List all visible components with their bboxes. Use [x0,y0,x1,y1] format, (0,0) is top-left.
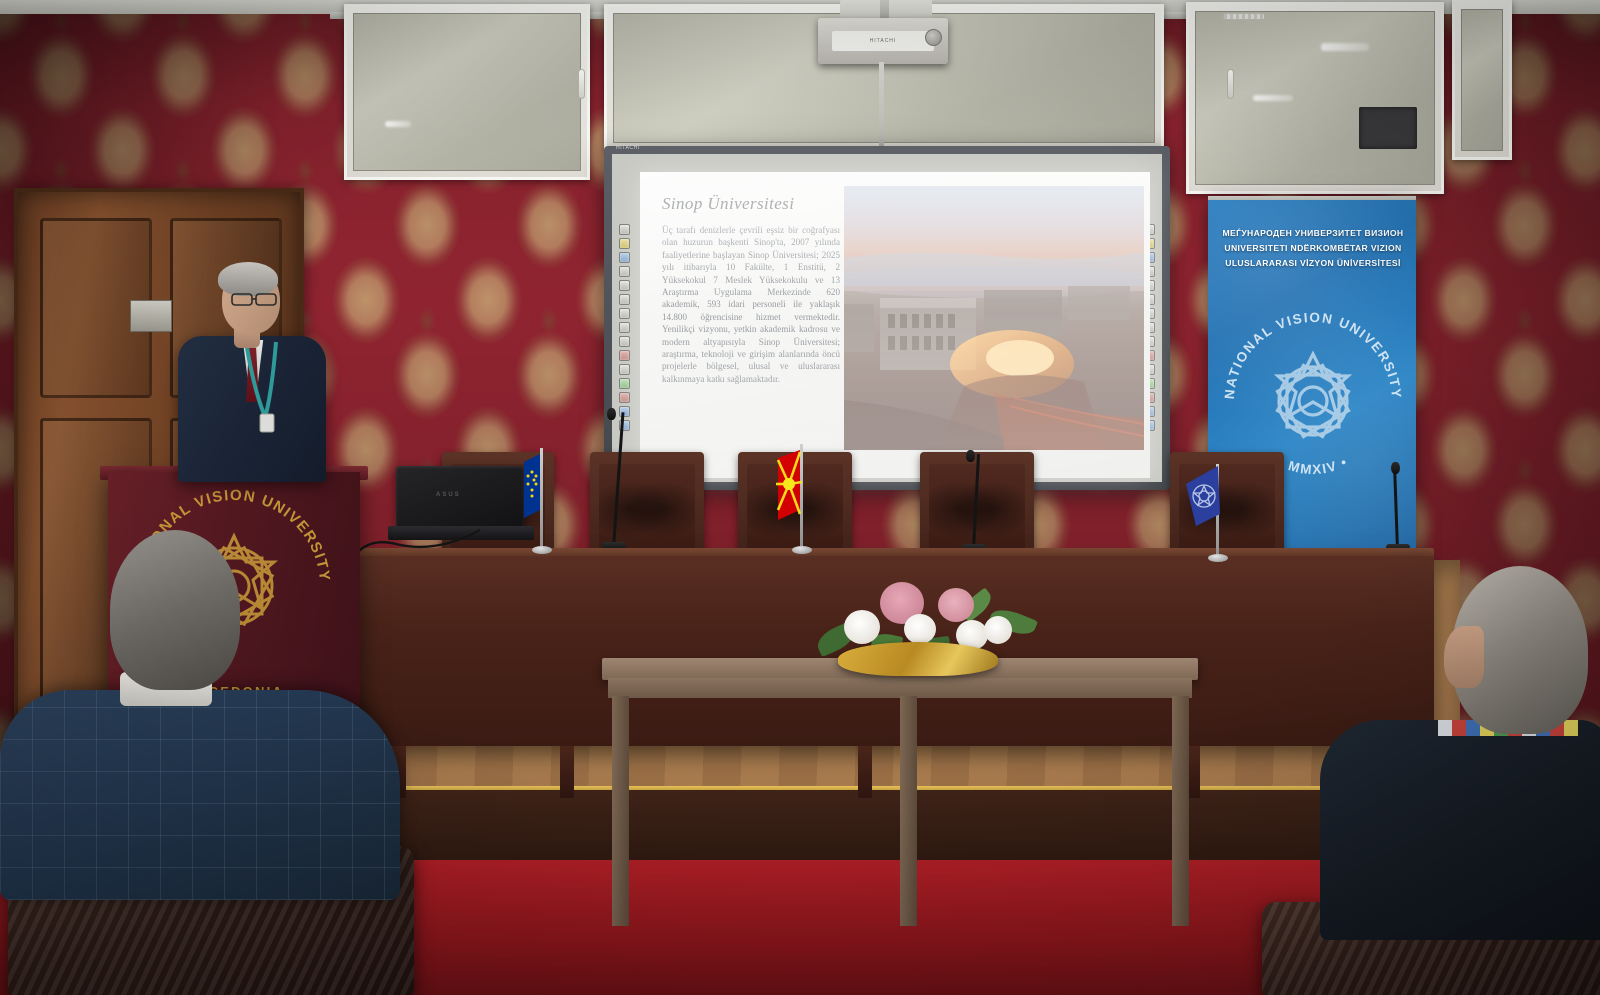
campus-aerial-illustration [844,186,1144,450]
toolbar-icon-save[interactable] [619,364,630,375]
projector-pole [879,62,884,152]
projector-brand-label: HITACHI [832,31,934,51]
slide-body-text: Üç tarafı denizlerle çevrili eşsiz bir c… [662,224,840,385]
toolbar-icon-redo[interactable] [619,308,630,319]
banner-logo-year: • MMXIV • [1275,454,1350,477]
flower-white-rose-4 [984,616,1012,644]
toolbar-icon-highlighter[interactable] [619,238,630,249]
microphone-head-2 [966,450,975,462]
toolbar-icon-green-pen[interactable] [619,378,630,389]
head-table-leg-3 [858,746,872,798]
front-table-leg-left [612,696,629,926]
flower-gold-wrap [838,642,998,676]
speaker-lanyard [236,340,294,436]
laptop-brand-label: ASUS [436,492,461,498]
banner-line-macedonian: МЕЃУНАРОДЕН УНИВЕРЗИТЕТ ВИЗИОН [1216,226,1410,241]
head-table-leg-2 [560,746,574,798]
flower-pink-2 [938,588,974,622]
university-flag [1180,462,1224,544]
projector-lens [925,29,942,46]
window-right-glare-1 [1321,43,1369,51]
toolbar-icon-red-pen[interactable] [619,350,630,361]
window-right[interactable] [1186,2,1444,194]
laptop-icon[interactable]: ASUS [396,466,524,528]
conference-hall-scene: HITACHI HITACHI [0,0,1600,995]
microphone-head-3 [1391,462,1400,474]
light-switch-plate[interactable] [130,300,172,332]
toolbar-icon-shape[interactable] [619,280,630,291]
toolbar-icon-close[interactable] [619,392,630,403]
microphone-head-1 [607,408,616,420]
head-table-chair-1[interactable] [590,452,704,554]
window-left-pane [353,13,581,171]
front-table-leg-right [1172,696,1189,926]
window-left-handle[interactable] [578,69,585,99]
window-far-right-pane [1461,9,1503,151]
window-right-handle[interactable] [1227,69,1234,99]
banner-line-albanian: UNIVERSITETI NDËRKOMBËTAR VIZION [1216,241,1410,256]
window-right-vent [1223,13,1265,20]
audience-left-head [110,530,240,690]
audience-right-ear-cheek [1444,626,1484,688]
toolbar-icon-pen[interactable] [619,252,630,263]
university-flag-base [1208,554,1228,562]
audience-right-sweater [1320,720,1600,940]
toolbar-icon-keyboard[interactable] [619,336,630,347]
european-union-flag-base [532,546,552,554]
flower-white-rose-1 [844,610,880,644]
north-macedonia-flag-base [792,546,812,554]
european-union-flag [520,452,552,528]
whiteboard-surface[interactable]: Sinop Üniversitesi Üç tarafı denizlerle … [612,154,1162,482]
flower-arrangement-icon [800,572,1050,682]
window-far-right[interactable] [1452,0,1512,160]
toolbar-icon-page[interactable] [619,322,630,333]
whiteboard-brand-label: HITACHI [616,145,640,151]
audience-left-windowpane-pattern [0,690,400,900]
front-table-leg-center [900,696,917,926]
projected-slide: Sinop Üniversitesi Üç tarafı denizlerle … [640,172,1150,478]
flower-white-rose-2 [904,614,936,644]
toolbar-icon-undo[interactable] [619,294,630,305]
window-left-glare [385,121,411,127]
window-right-reflection-equipment [1359,107,1417,149]
slide-campus-photo [844,186,1144,450]
whiteboard-toolbar-left[interactable] [617,224,632,431]
slide-title: Sinop Üniversitesi [662,194,794,214]
speaker-glasses [230,290,284,310]
toolbar-icon-select[interactable] [619,224,630,235]
projector-arm [880,0,889,20]
banner-line-turkish: ULUSLARARASI VİZYON ÜNİVERSİTESİ [1216,256,1410,271]
laptop-cable [356,528,486,562]
interactive-whiteboard[interactable]: HITACHI [604,146,1170,490]
window-right-glare-2 [1253,95,1293,101]
toolbar-icon-eraser[interactable] [619,266,630,277]
window-left[interactable] [344,4,590,180]
projector-icon: HITACHI [818,18,948,64]
north-macedonia-flag [764,448,804,532]
